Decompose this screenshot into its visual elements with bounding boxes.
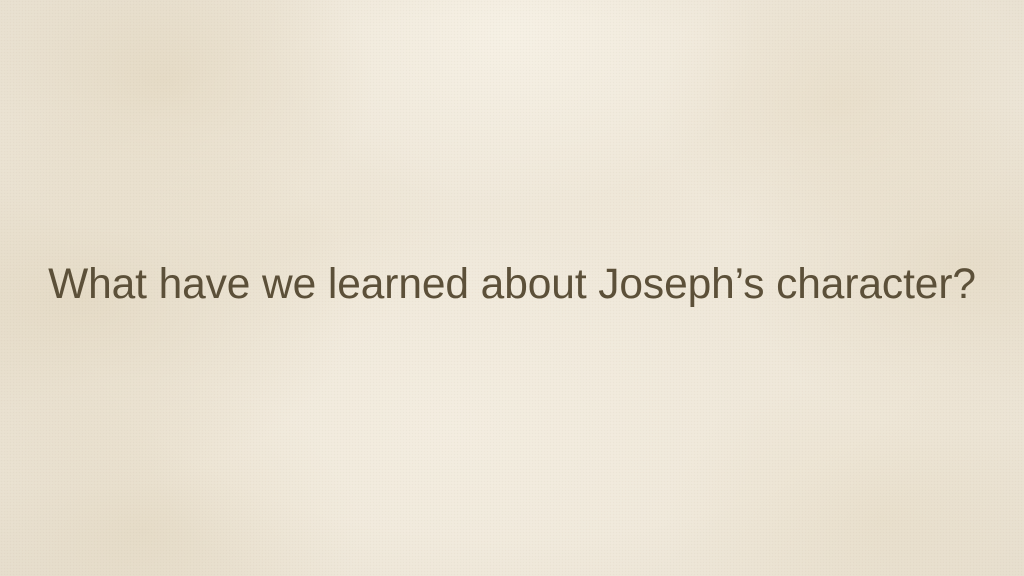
slide-headline: What have we learned about Joseph’s char… — [0, 259, 1024, 310]
slide-content: What have we learned about Joseph’s char… — [0, 259, 1024, 310]
presentation-slide: What have we learned about Joseph’s char… — [0, 0, 1024, 576]
